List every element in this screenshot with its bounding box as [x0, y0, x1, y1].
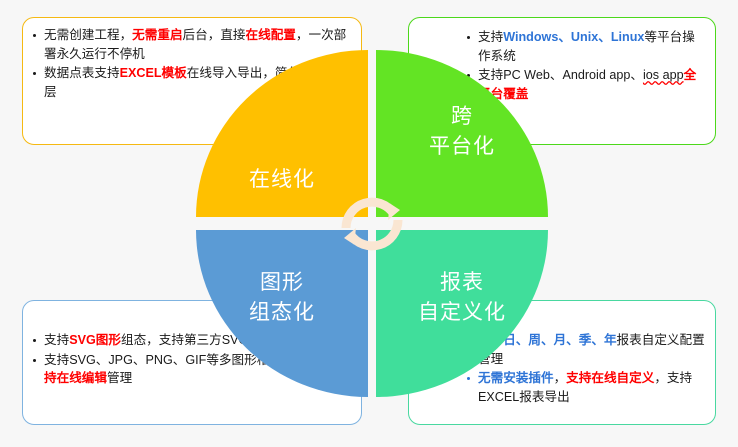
text-run: 日、周、月、季、年 — [503, 333, 616, 347]
callout-report: 支持日、周、月、季、年报表自定义配置管理无需安装插件，支持在线自定义，支持EXC… — [408, 300, 716, 425]
bullet-item: 无需安装插件，支持在线自定义，支持EXCEL报表导出 — [465, 369, 705, 406]
text-run: 支持在线自定义 — [566, 371, 654, 385]
text-run: 支持 — [478, 30, 503, 44]
bullet-item: 支持PC Web、Android app、ios app全平台覆盖 — [465, 66, 705, 103]
diagram-canvas: 无需创建工程，无需重启后台，直接在线配置，一次部署永久运行不停机数据点表支持EX… — [0, 0, 738, 447]
bullet-item: 支持SVG图形组态，支持第三方SVG标准图形导入导出 — [31, 331, 351, 350]
bullet-item: 支持日、周、月、季、年报表自定义配置管理 — [465, 331, 705, 368]
text-run: 支持PC Web、Android app、 — [478, 68, 643, 82]
callout-graphics: 支持SVG图形组态，支持第三方SVG标准图形导入导出支持SVG、JPG、PNG、… — [22, 300, 362, 425]
callout-report-bullets: 支持日、周、月、季、年报表自定义配置管理无需安装插件，支持在线自定义，支持EXC… — [417, 309, 705, 406]
text-run: 无需安装插件 — [478, 371, 554, 385]
text-run: 后台，直接 — [183, 28, 246, 42]
bullet-item: 无需创建工程，无需重启后台，直接在线配置，一次部署永久运行不停机 — [31, 26, 351, 63]
text-run: SVG图形 — [69, 333, 121, 347]
text-run: Windows、Unix、Linux — [503, 30, 644, 44]
bullet-item: 数据点表支持EXCEL模板在线导入导出，简化设备对接层 — [31, 64, 351, 101]
bullet-item: 支持SVG、JPG、PNG、GIF等多图形格式图符库，支持在线编辑管理 — [31, 351, 351, 388]
quadrant-online-label: 在线化 — [196, 165, 368, 195]
callout-cross-platform: 支持Windows、Unix、Linux等平台操作系统支持PC Web、Andr… — [408, 17, 716, 145]
text-run: 无需重启 — [132, 28, 182, 42]
callout-online: 无需创建工程，无需重启后台，直接在线配置，一次部署永久运行不停机数据点表支持EX… — [22, 17, 362, 145]
text-run: 在线配置 — [246, 28, 296, 42]
text-run: 支持SVG、JPG、PNG、GIF等多图形格式图符库， — [44, 353, 332, 367]
text-run: 管理 — [107, 371, 132, 385]
text-run: 无需创建工程， — [44, 28, 132, 42]
callout-cross-platform-bullets: 支持Windows、Unix、Linux等平台操作系统支持PC Web、Andr… — [417, 26, 705, 103]
bullet-item: 支持Windows、Unix、Linux等平台操作系统 — [465, 28, 705, 65]
text-run: 数据点表支持 — [44, 66, 120, 80]
text-run: ios app — [643, 68, 684, 82]
text-run: ， — [554, 371, 567, 385]
text-run: 支持 — [478, 333, 503, 347]
text-run: 支持 — [44, 333, 69, 347]
text-run: 组态，支持第三方SVG标准图形导入导出 — [121, 333, 349, 347]
callout-online-bullets: 无需创建工程，无需重启后台，直接在线配置，一次部署永久运行不停机数据点表支持EX… — [31, 26, 351, 101]
callout-graphics-bullets: 支持SVG图形组态，支持第三方SVG标准图形导入导出支持SVG、JPG、PNG、… — [31, 309, 351, 388]
circular-rotation-arrows-icon — [335, 187, 409, 261]
text-run: EXCEL模板 — [120, 66, 187, 80]
